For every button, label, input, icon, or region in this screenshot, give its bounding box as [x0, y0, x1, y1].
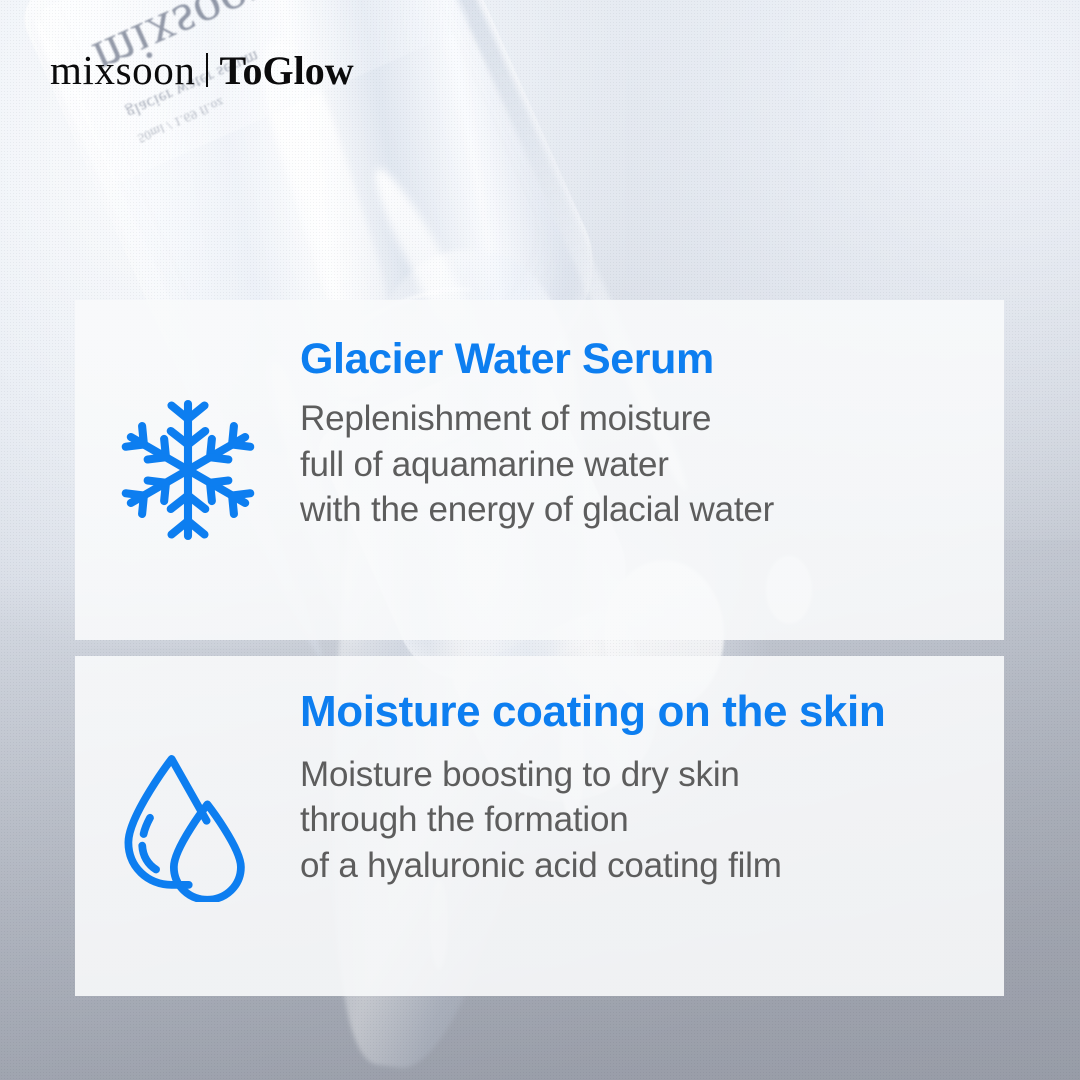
feature-line: Replenishment of moisture	[300, 396, 774, 442]
water-droplets-icon	[75, 656, 300, 996]
brand-logo-primary: mixsoon	[50, 46, 195, 94]
brand-logo-secondary: ToGlow	[219, 47, 353, 94]
feature-title: Glacier Water Serum	[300, 336, 774, 382]
feature-line: with the energy of glacial water	[300, 487, 774, 533]
brand-logo: mixsoon ToGlow	[50, 46, 354, 94]
feature-title: Moisture coating on the skin	[300, 688, 885, 736]
feature-line: through the formation	[300, 797, 885, 843]
feature-panel-text: Glacier Water Serum Replenishment of moi…	[300, 300, 774, 533]
feature-panel-text: Moisture coating on the skin Moisture bo…	[300, 656, 885, 888]
feature-line: full of aquamarine water	[300, 442, 774, 488]
feature-panel-glacier-water-serum: Glacier Water Serum Replenishment of moi…	[75, 300, 1004, 640]
feature-line: of a hyaluronic acid coating film	[300, 843, 885, 889]
brand-logo-divider	[206, 53, 208, 87]
feature-line: Moisture boosting to dry skin	[300, 752, 885, 798]
snowflake-icon	[75, 300, 300, 640]
feature-panel-moisture-coating: Moisture coating on the skin Moisture bo…	[75, 656, 1004, 996]
